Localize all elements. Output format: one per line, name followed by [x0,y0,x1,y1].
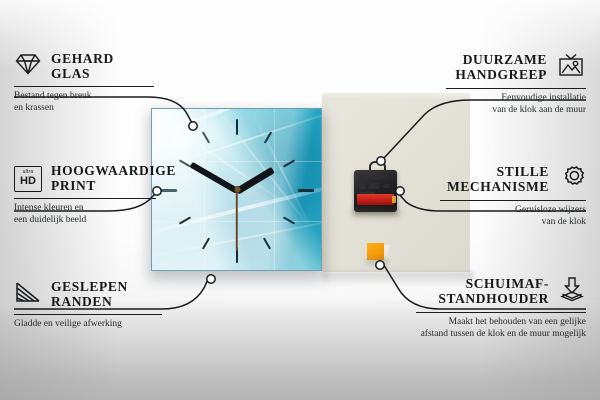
feature-title: STILLE MECHANISME [447,165,549,194]
feature-hoogwaardige-print: ultra HD HOOGWAARDIGE PRINT Intense kleu… [14,164,156,226]
feature-description: Intense kleuren en een duidelijk beeld [14,203,156,226]
feature-description: Geruisloze wijzers van de klok [440,205,586,228]
feature-description: Bestand tegen breuk en krassen [14,91,154,114]
feature-title: HOOGWAARDIGE PRINT [51,164,176,193]
feature-description: Maakt het behouden van een gelijke afsta… [416,317,586,340]
feature-rule [14,86,154,87]
feature-schuimafstandhouder: SCHUIMAF- STANDHOUDER Maakt het behouden… [416,276,586,340]
feature-description: Eenvoudige installatie van de klok aan d… [446,93,586,116]
ultra-hd-icon: ultra HD [14,166,42,192]
feature-title: GEHARD GLAS [51,52,114,81]
picture-hanger-icon [556,52,586,83]
connector-endpoint-duurzame-handgreep [377,157,385,165]
connector-endpoint-gehard-glas [189,122,197,130]
feature-rule [416,312,586,313]
feature-title: GESLEPEN RANDEN [51,280,128,309]
diamond-icon [14,52,42,81]
feature-description: Gladde en veilige afwerking [14,319,162,331]
feature-duurzame-handgreep: DUURZAME HANDGREEP Eenvoudige installati… [446,52,586,116]
feature-title: DUURZAME HANDGREEP [455,53,547,82]
feature-rule [14,198,156,199]
feature-rule [14,314,162,315]
beveled-edges-icon [14,280,42,309]
feature-rule [440,200,586,201]
gear-icon [558,164,586,195]
feature-title: SCHUIMAF- STANDHOUDER [438,277,549,306]
ultra-hd-icon-bottom-label: HD [20,176,36,187]
feature-rule [446,88,586,89]
connector-endpoint-geslepen-randen [207,275,215,283]
infographic-stage: GEHARD GLAS Bestand tegen breuk en krass… [0,0,600,400]
feature-geslepen-randen: GESLEPEN RANDEN Gladde en veilige afwerk… [14,280,162,331]
spacer-arrow-icon [558,276,586,307]
feature-stille-mechanisme: STILLE MECHANISME Geruisloze wijzers van… [440,164,586,228]
connector-endpoint-stille-mechanisme [396,187,404,195]
feature-gehard-glas: GEHARD GLAS Bestand tegen breuk en krass… [14,52,154,114]
connector-endpoint-schuimafstandhouder [376,261,384,269]
